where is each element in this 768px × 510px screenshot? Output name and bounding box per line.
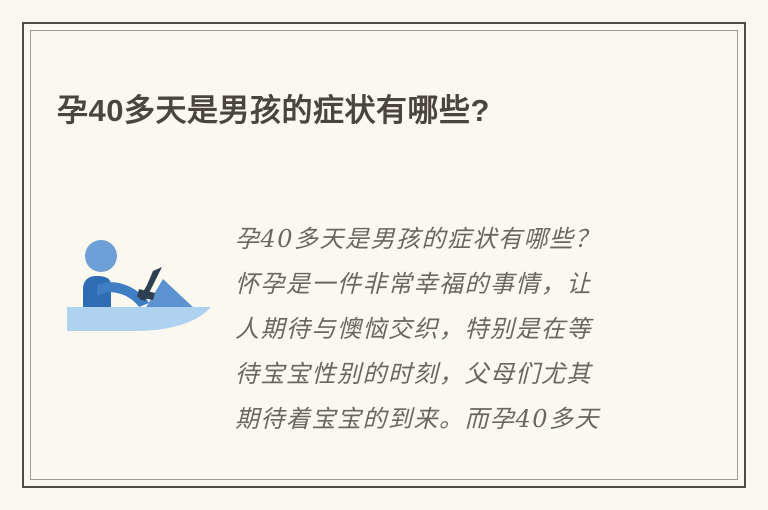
page-title: 孕40多天是男孩的症状有哪些?: [57, 91, 697, 131]
document-page: 孕40多天是男孩的症状有哪些? 孕40多天是男孩的症状有哪些？ 怀孕是一: [0, 0, 768, 510]
body-line: 期待着宝宝的到来。而孕40多天: [235, 397, 655, 442]
body-line: 待宝宝性别的时刻，父母们尤其: [235, 352, 655, 397]
article-content: 孕40多天是男孩的症状有哪些？ 怀孕是一件非常幸福的事情，让 人期待与懊恼交织，…: [57, 205, 677, 455]
person-riding-boat-illustration: [65, 227, 215, 337]
body-line: 孕40多天是男孩的症状有哪些？: [235, 217, 655, 262]
body-line: 怀孕是一件非常幸福的事情，让: [235, 262, 655, 307]
article-body: 孕40多天是男孩的症状有哪些？ 怀孕是一件非常幸福的事情，让 人期待与懊恼交织，…: [235, 217, 655, 442]
illustration-hull-shape: [67, 307, 211, 331]
illustration-head-shape: [85, 240, 117, 272]
body-line: 人期待与懊恼交织，特别是在等: [235, 307, 655, 352]
